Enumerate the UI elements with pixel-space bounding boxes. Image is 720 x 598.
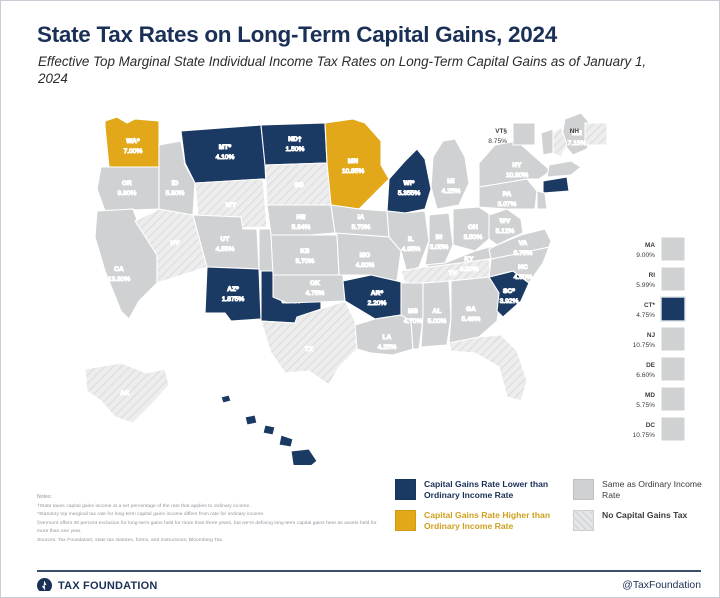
svg-text:1.50%: 1.50% <box>286 146 305 153</box>
tax-foundation-logo-icon <box>37 578 52 591</box>
svg-text:4.25%: 4.25% <box>378 344 397 351</box>
svg-text:MN: MN <box>348 158 359 165</box>
svg-text:IA: IA <box>358 214 365 221</box>
svg-text:4.70%: 4.70% <box>404 318 423 325</box>
state-NE[interactable]: NE5.84% <box>267 205 335 235</box>
svg-text:WV: WV <box>500 218 511 225</box>
legend-swatch-gold <box>395 510 416 531</box>
state-ND[interactable]: ND†1.50% <box>261 123 327 165</box>
svg-text:3.92%: 3.92% <box>500 298 519 305</box>
state-AK[interactable]: AK <box>85 363 169 423</box>
page-title: State Tax Rates on Long-Term Capital Gai… <box>37 23 697 48</box>
svg-text:10.90%: 10.90% <box>506 172 529 179</box>
svg-text:5.75%: 5.75% <box>636 402 655 409</box>
callout-MA[interactable]: MA 9.00% <box>636 237 685 261</box>
state-NJ-shape[interactable] <box>537 191 547 209</box>
notes-block: Notes: †State taxes capital gains income… <box>37 493 387 545</box>
svg-text:UT: UT <box>221 236 230 243</box>
svg-text:AR*: AR* <box>371 290 384 297</box>
state-MT[interactable]: MT*4.10% <box>181 125 267 183</box>
legend-item-same[interactable]: Same as Ordinary Income Rate <box>573 479 703 502</box>
svg-text:IN: IN <box>436 234 443 241</box>
svg-text:5.70%: 5.70% <box>352 224 371 231</box>
svg-text:TX: TX <box>305 346 314 353</box>
svg-text:9.90%: 9.90% <box>118 190 137 197</box>
legend-label-higher: Capital Gains Rate Higher than Ordinary … <box>424 510 560 533</box>
svg-text:1.875%: 1.875% <box>222 296 245 303</box>
svg-text:DE: DE <box>646 362 656 369</box>
svg-text:5.12%: 5.12% <box>496 228 515 235</box>
state-OR[interactable]: OR9.90% <box>97 167 159 211</box>
notes-heading: Notes: <box>37 493 387 502</box>
state-AR[interactable]: AR*2.20% <box>343 275 405 319</box>
callout-MD[interactable]: MD 5.75% <box>636 387 685 411</box>
svg-text:5.80%: 5.80% <box>166 190 185 197</box>
svg-text:5.75%: 5.75% <box>514 250 533 257</box>
svg-text:WA*: WA* <box>126 138 140 145</box>
note-line-2: *Statutory top marginal tax rate for lon… <box>37 511 387 519</box>
svg-text:4.75%: 4.75% <box>306 290 325 297</box>
svg-text:OH: OH <box>468 224 478 231</box>
svg-text:5.99%: 5.99% <box>636 282 655 289</box>
svg-text:DC: DC <box>646 422 656 429</box>
svg-text:OR: OR <box>122 180 132 187</box>
svg-text:MI: MI <box>447 178 455 185</box>
legend-item-none[interactable]: No Capital Gains Tax <box>573 510 703 531</box>
state-AL[interactable]: AL5.00% <box>421 281 451 347</box>
svg-text:CT*: CT* <box>644 302 656 309</box>
svg-text:ND†: ND† <box>288 136 302 143</box>
svg-text:FL: FL <box>497 382 505 389</box>
svg-text:HI*: HI* <box>250 440 260 447</box>
us-choropleth-map: WA*7.00% OR9.90% CA13.30% ID5.80% NV MT*… <box>9 105 713 465</box>
svg-text:GA: GA <box>466 306 476 313</box>
svg-text:4.80%: 4.80% <box>356 262 375 269</box>
svg-text:7.15%: 7.15% <box>568 140 587 147</box>
state-VT-shape[interactable] <box>541 129 553 155</box>
svg-text:AK: AK <box>120 390 130 397</box>
svg-text:PA: PA <box>503 191 512 198</box>
state-GA[interactable]: GA5.49% <box>449 277 501 343</box>
svg-text:CA: CA <box>114 266 124 273</box>
svg-text:NY: NY <box>512 162 522 169</box>
state-IA[interactable]: IA5.70% <box>331 205 389 237</box>
svg-text:10.85%: 10.85% <box>342 168 365 175</box>
svg-text:NH: NH <box>570 128 580 135</box>
svg-text:4.55%: 4.55% <box>216 246 235 253</box>
state-SD[interactable]: SD <box>265 163 331 205</box>
map-legend: Capital Gains Rate Lower than Ordinary I… <box>395 479 705 541</box>
callout-CT[interactable]: CT* 4.75% <box>636 297 685 321</box>
svg-text:KY: KY <box>464 256 474 263</box>
svg-text:NE: NE <box>296 214 306 221</box>
svg-text:ID: ID <box>172 180 179 187</box>
svg-text:13.30%: 13.30% <box>108 276 131 283</box>
svg-text:SD: SD <box>294 182 303 189</box>
svg-text:MT*: MT* <box>219 144 232 151</box>
footer-divider <box>37 570 701 572</box>
svg-text:MA: MA <box>645 242 655 249</box>
svg-text:4.10%: 4.10% <box>216 154 235 161</box>
state-WI[interactable]: WI*5.355% <box>387 149 431 213</box>
svg-text:VA: VA <box>519 240 528 247</box>
svg-text:AZ*: AZ* <box>227 286 239 293</box>
svg-text:5.70%: 5.70% <box>296 258 315 265</box>
state-OK[interactable]: OK4.75% <box>273 275 345 303</box>
svg-text:MS: MS <box>408 308 419 315</box>
page-subtitle: Effective Top Marginal State Individual … <box>38 53 668 87</box>
svg-text:MO: MO <box>360 252 371 259</box>
legend-item-lower[interactable]: Capital Gains Rate Lower than Ordinary I… <box>395 479 560 502</box>
svg-text:SC*: SC* <box>503 288 515 295</box>
svg-text:5.355%: 5.355% <box>398 190 421 197</box>
svg-text:8.75%: 8.75% <box>488 138 507 145</box>
state-WA[interactable]: WA*7.00% <box>105 117 159 167</box>
brand-lockup[interactable]: TAX FOUNDATION <box>37 578 158 591</box>
svg-text:5.49%: 5.49% <box>462 316 481 323</box>
note-line-1: †State taxes capital gains income at a s… <box>37 503 387 511</box>
state-AZ[interactable]: AZ*1.875% <box>205 267 261 321</box>
svg-text:TN: TN <box>449 270 458 277</box>
legend-swatch-gray <box>573 479 594 500</box>
svg-text:LA: LA <box>383 334 392 341</box>
svg-text:RI: RI <box>649 272 656 279</box>
svg-text:4.25%: 4.25% <box>442 188 461 195</box>
svg-text:3.50%: 3.50% <box>464 234 483 241</box>
svg-text:6.60%: 6.60% <box>636 372 655 379</box>
state-IN[interactable]: IN3.05% <box>425 213 453 265</box>
svg-text:7.25%: 7.25% <box>246 450 265 457</box>
state-CT-shape[interactable] <box>543 177 569 193</box>
social-handle[interactable]: @TaxFoundation <box>622 580 701 591</box>
svg-text:KS: KS <box>300 248 310 255</box>
svg-text:5.00%: 5.00% <box>428 318 447 325</box>
state-KS[interactable]: KS5.70% <box>271 235 339 275</box>
brand-name: TAX FOUNDATION <box>58 580 158 592</box>
svg-text:10.75%: 10.75% <box>633 432 656 439</box>
state-OH[interactable]: OH3.50% <box>453 207 491 251</box>
legend-swatch-hatch <box>573 510 594 531</box>
state-MN[interactable]: MN10.85% <box>325 119 389 209</box>
svg-text:4.50%: 4.50% <box>514 274 533 281</box>
svg-text:4.95%: 4.95% <box>402 246 421 253</box>
svg-text:2.20%: 2.20% <box>368 300 387 307</box>
svg-text:3.05%: 3.05% <box>430 244 449 251</box>
callout-DC[interactable]: DC 10.75% <box>633 417 685 441</box>
svg-text:VT§: VT§ <box>495 128 507 135</box>
infographic-frame: State Tax Rates on Long-Term Capital Gai… <box>0 0 720 598</box>
svg-text:NV: NV <box>170 240 180 247</box>
legend-item-higher[interactable]: Capital Gains Rate Higher than Ordinary … <box>395 510 560 533</box>
footer: TAX FOUNDATION @TaxFoundation <box>37 578 701 591</box>
legend-label-same: Same as Ordinary Income Rate <box>602 479 703 502</box>
legend-label-none: No Capital Gains Tax <box>602 510 687 521</box>
svg-text:9.00%: 9.00% <box>636 252 655 259</box>
note-line-3: §Vermont offers 40 percent exclusion for… <box>37 520 387 537</box>
legend-swatch-navy <box>395 479 416 500</box>
svg-text:AL: AL <box>433 308 442 315</box>
callout-NJ[interactable]: NJ 10.75% <box>633 327 685 351</box>
legend-label-lower: Capital Gains Rate Lower than Ordinary I… <box>424 479 560 502</box>
svg-text:NC: NC <box>518 264 528 271</box>
state-MA-shape[interactable] <box>547 161 581 177</box>
infographic-canvas: State Tax Rates on Long-Term Capital Gai… <box>9 9 713 591</box>
svg-text:WY: WY <box>226 202 237 209</box>
note-sources: Sources: Tax Foundation; state tax statu… <box>37 537 387 545</box>
svg-text:OK: OK <box>310 280 320 287</box>
svg-text:4.00%: 4.00% <box>460 266 479 273</box>
svg-text:WI*: WI* <box>404 180 415 187</box>
svg-text:7.00%: 7.00% <box>124 148 143 155</box>
svg-text:NJ: NJ <box>647 332 656 339</box>
callout-DE[interactable]: DE 6.60% <box>636 357 685 381</box>
svg-text:5.84%: 5.84% <box>292 224 311 231</box>
state-HI[interactable]: HI*7.25% <box>221 395 317 465</box>
svg-text:IL: IL <box>408 236 414 243</box>
svg-text:3.07%: 3.07% <box>498 201 517 208</box>
svg-text:4.75%: 4.75% <box>636 312 655 319</box>
state-NY[interactable]: NY10.90% <box>479 141 551 187</box>
callout-RI[interactable]: RI 5.99% <box>636 267 685 291</box>
svg-text:10.75%: 10.75% <box>633 342 656 349</box>
svg-text:MD: MD <box>645 392 655 399</box>
state-MI[interactable]: MI4.25% <box>431 139 469 209</box>
state-FL[interactable]: FL <box>449 335 527 401</box>
